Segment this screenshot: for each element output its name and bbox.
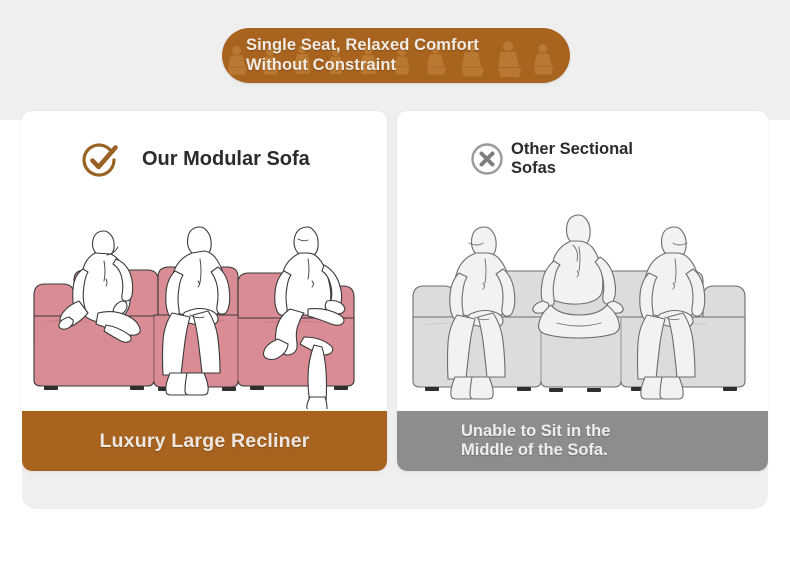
right-card-illustration [397,197,768,409]
left-card-caption-bar: Luxury Large Recliner [22,411,387,471]
right-card-header: Other Sectional Sofas [397,111,768,207]
promo-banner: Single Seat, Relaxed Comfort Without Con… [222,28,570,83]
card-our-modular-sofa: Our Modular Sofa [22,111,387,471]
right-card-caption: Unable to Sit in the Middle of the Sofa. [461,422,610,461]
right-card-caption-bar: Unable to Sit in the Middle of the Sofa. [397,411,768,471]
left-card-header: Our Modular Sofa [22,111,387,207]
left-card-illustration [22,197,387,409]
check-circle-icon [80,139,120,179]
right-card-title: Other Sectional Sofas [511,140,633,178]
left-card-caption: Luxury Large Recliner [99,430,309,453]
left-card-title: Our Modular Sofa [142,149,310,170]
card-other-sectional-sofas: Other Sectional Sofas [397,111,768,471]
x-circle-icon [467,139,507,179]
promo-banner-text: Single Seat, Relaxed Comfort Without Con… [246,35,546,75]
